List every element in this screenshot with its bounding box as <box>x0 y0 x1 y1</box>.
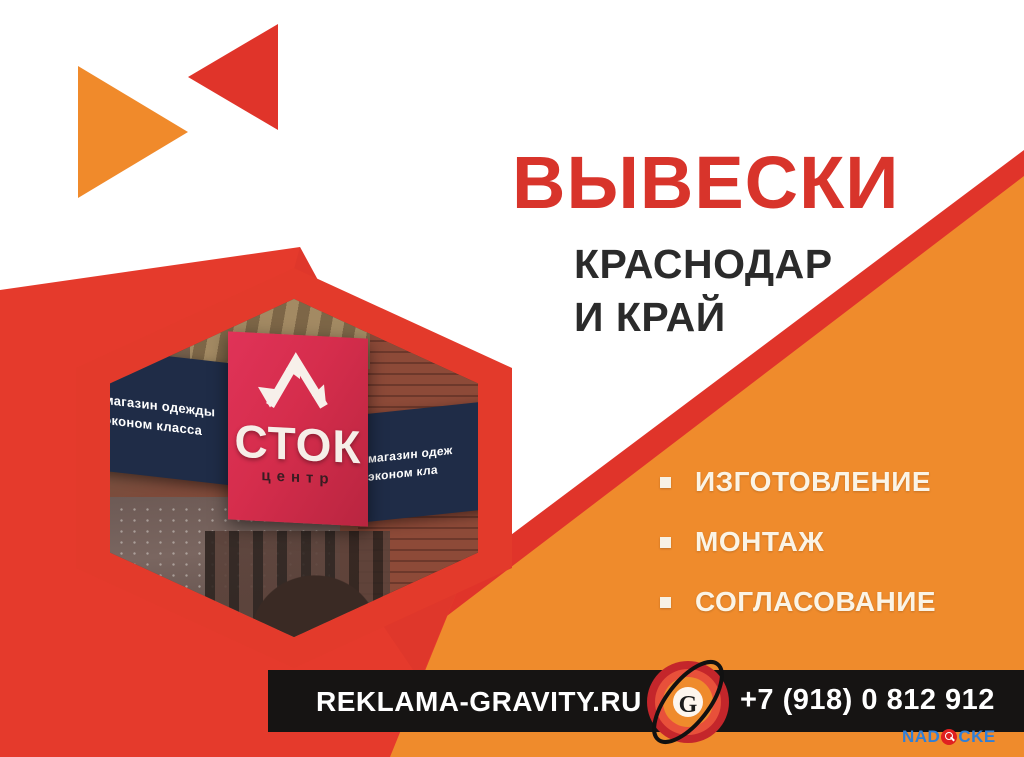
list-item: МОНТАЖ <box>660 526 1020 558</box>
photo-sign-stok-title: СТОК <box>228 417 368 470</box>
bullet-square-icon <box>660 597 671 608</box>
service-label: ИЗГОТОВЛЕНИЕ <box>695 466 931 498</box>
services-list: ИЗГОТОВЛЕНИЕ МОНТАЖ СОГЛАСОВАНИЕ <box>660 466 1020 646</box>
advertising-banner: магазин одежды эконом класса магазин оде… <box>0 0 1024 757</box>
page-subtitle-line2: И КРАЙ <box>574 291 1014 344</box>
hexagon-photo-frame: магазин одежды эконом класса магазин оде… <box>76 268 512 668</box>
phone-number[interactable]: +7 (918) 0 812 912 <box>740 684 995 717</box>
page-title: ВЫВЕСКИ <box>512 146 992 220</box>
website-url[interactable]: REKLAMA-GRAVITY.RU <box>316 686 642 718</box>
logo-letter: G <box>679 692 698 718</box>
magnifier-icon <box>941 729 957 745</box>
company-logo: G <box>636 650 740 754</box>
photo-sign-stok: СТОК центр <box>228 331 368 526</box>
nadocke-watermark: NAD CKE <box>902 727 996 747</box>
page-subtitle: КРАСНОДАР И КРАЙ <box>574 238 1014 344</box>
list-item: СОГЛАСОВАНИЕ <box>660 586 1020 618</box>
service-label: СОГЛАСОВАНИЕ <box>695 586 936 618</box>
service-label: МОНТАЖ <box>695 526 824 558</box>
list-item: ИЗГОТОВЛЕНИЕ <box>660 466 1020 498</box>
page-subtitle-line1: КРАСНОДАР <box>574 238 1014 291</box>
recycling-arrows-icon <box>250 344 346 427</box>
bullet-square-icon <box>660 477 671 488</box>
watermark-text-right: CKE <box>958 727 995 747</box>
bullet-square-icon <box>660 537 671 548</box>
triangle-red-left-icon <box>188 24 278 130</box>
photo-sign-right: магазин одеж эконом кла <box>358 399 478 523</box>
triangle-orange-right-icon <box>78 66 188 198</box>
watermark-text-left: NAD <box>902 727 940 747</box>
